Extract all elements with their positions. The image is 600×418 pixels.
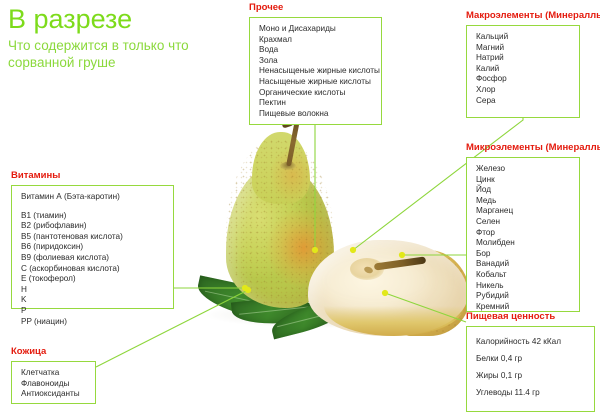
- list-item: Углеводы 11.4 гр: [476, 384, 586, 401]
- list-item: P: [21, 306, 165, 317]
- list-item: Пищевые волокна: [259, 109, 373, 120]
- callout-macroelements: Макроэлементы (Минераллы) Кальций Магний…: [466, 10, 600, 118]
- list-item: Калий: [476, 64, 571, 75]
- callout-vitamins: Витамины Витамин А (Бэта-каротин) B1 (ти…: [11, 170, 174, 309]
- callout-other-box: Моно и Дисахариды Крахмал Вода Зола Нена…: [249, 17, 382, 125]
- list-item: B6 (пиридоксин): [21, 242, 165, 253]
- list-item: B9 (фолиевая кислота): [21, 253, 165, 264]
- list-item: B1 (тиамин): [21, 211, 165, 222]
- list-item: Органические кислоты: [259, 88, 373, 99]
- list-item: Бор: [476, 249, 571, 260]
- list-item: Молибден: [476, 238, 571, 249]
- list-item: B5 (пантотеновая кислота): [21, 232, 165, 243]
- callout-other-title: Прочее: [249, 2, 382, 13]
- callout-vitamins-box: Витамин А (Бэта-каротин) B1 (тиамин) B2 …: [11, 185, 174, 309]
- list-item: Моно и Дисахариды: [259, 24, 373, 35]
- list-item: Ненасыщеные жирные кислоты: [259, 66, 373, 77]
- callout-macroelements-box: Кальций Магний Натрий Калий Фосфор Хлор …: [466, 25, 580, 118]
- list-item: Хлор: [476, 85, 571, 96]
- list-item: Рубидий: [476, 291, 571, 302]
- callout-microelements: Микроэлементы (Минераллы) Железо Цинк Йо…: [466, 142, 600, 312]
- list-item: Сера: [476, 96, 571, 107]
- callout-skin: Кожица Клетчатка Флавоноиды Антиоксидант…: [11, 346, 96, 404]
- callout-microelements-title: Микроэлементы (Минераллы): [466, 142, 600, 153]
- list-item: Флавоноиды: [21, 379, 87, 390]
- list-item: Антиоксиданты: [21, 389, 87, 400]
- list-item: Йод: [476, 185, 571, 196]
- callout-nutrition-title: Пищевая ценность: [466, 311, 595, 322]
- callout-skin-title: Кожица: [11, 346, 96, 357]
- infographic-canvas: В разрезе Что содержится в только что со…: [0, 0, 600, 418]
- list-item: Цинк: [476, 175, 571, 186]
- list-item: Натрий: [476, 53, 571, 64]
- list-item-lead: Витамин А (Бэта-каротин): [21, 192, 165, 203]
- list-item: Кобальт: [476, 270, 571, 281]
- list-item: Клетчатка: [21, 368, 87, 379]
- title-block: В разрезе Что содержится в только что со…: [8, 4, 243, 71]
- callout-other: Прочее Моно и Дисахариды Крахмал Вода Зо…: [249, 2, 382, 125]
- list-item: Ванадий: [476, 259, 571, 270]
- list-item: Железо: [476, 164, 571, 175]
- pear-photo: [178, 120, 488, 355]
- list-item: H: [21, 285, 165, 296]
- callout-macroelements-title: Макроэлементы (Минераллы): [466, 10, 600, 21]
- list-item: Медь: [476, 196, 571, 207]
- list-item: Калорийность 42 кКал: [476, 333, 586, 350]
- list-item: Зола: [259, 56, 373, 67]
- list-item: Фтор: [476, 228, 571, 239]
- list-item: Насыщеные жирные кислоты: [259, 77, 373, 88]
- list-item: Пектин: [259, 98, 373, 109]
- list-item: Фосфор: [476, 74, 571, 85]
- page-subtitle: Что содержится в только что сорванной гр…: [8, 37, 223, 71]
- callout-nutrition: Пищевая ценность Калорийность 42 кКал Бе…: [466, 311, 595, 412]
- list-item: Крахмал: [259, 35, 373, 46]
- list-item: Белки 0,4 гр: [476, 350, 586, 367]
- list-item: Вода: [259, 45, 373, 56]
- callout-microelements-box: Железо Цинк Йод Медь Марганец Селен Фтор…: [466, 157, 580, 312]
- callout-vitamins-title: Витамины: [11, 170, 174, 181]
- page-title: В разрезе: [8, 4, 243, 34]
- list-item: B2 (рибофлавин): [21, 221, 165, 232]
- callout-skin-box: Клетчатка Флавоноиды Антиоксиданты: [11, 361, 96, 404]
- list-item: C (аскорбиновая кислота): [21, 264, 165, 275]
- list-item: Жиры 0,1 гр: [476, 367, 586, 384]
- spacer: [21, 203, 165, 211]
- list-item: Магний: [476, 43, 571, 54]
- list-item: PP (ниацин): [21, 317, 165, 328]
- list-item: Селен: [476, 217, 571, 228]
- list-item: E (токоферол): [21, 274, 165, 285]
- list-item: Марганец: [476, 206, 571, 217]
- list-item: Никель: [476, 281, 571, 292]
- callout-nutrition-box: Калорийность 42 кКал Белки 0,4 гр Жиры 0…: [466, 326, 595, 412]
- list-item: K: [21, 295, 165, 306]
- list-item: Кальций: [476, 32, 571, 43]
